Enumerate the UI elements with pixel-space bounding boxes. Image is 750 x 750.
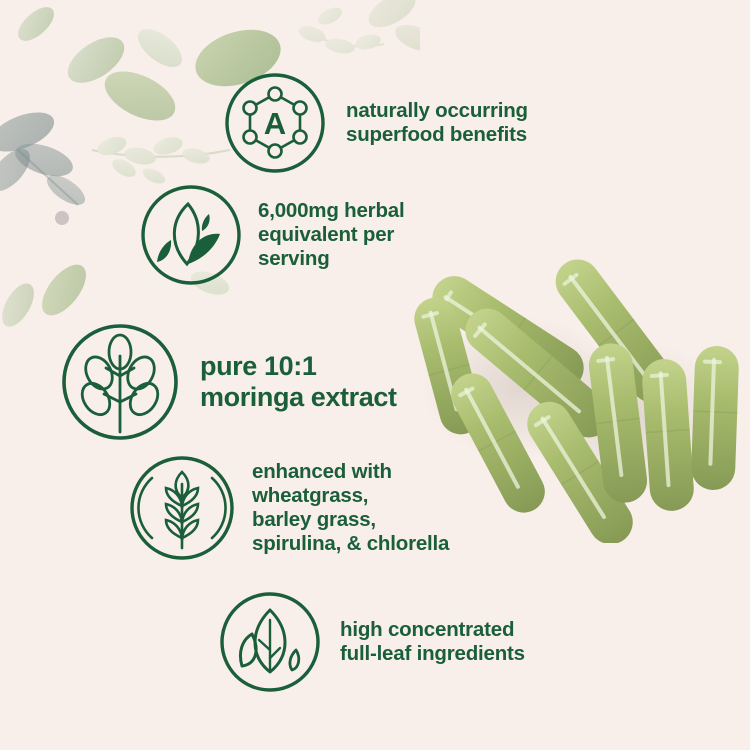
svg-text:A: A bbox=[264, 106, 286, 141]
wheat-stalk-icon bbox=[126, 452, 238, 564]
moringa-branch-icon bbox=[58, 320, 182, 444]
feature-text: enhanced with wheatgrass, barley grass, … bbox=[252, 460, 449, 555]
leaf-cluster-icon bbox=[138, 182, 244, 288]
infographic-canvas: A naturally occurring superfood benefits… bbox=[0, 0, 750, 750]
feature-text: naturally occurring superfood benefits bbox=[346, 99, 528, 147]
feature-text: pure 10:1 moringa extract bbox=[200, 351, 397, 414]
moringa-capsules-photo bbox=[400, 238, 750, 543]
feature-naturally-occurring: A naturally occurring superfood benefits bbox=[222, 70, 528, 176]
feature-full-leaf: high concentrated full-leaf ingredients bbox=[216, 588, 525, 696]
leaf-droplet-icon bbox=[216, 588, 324, 696]
feature-text: high concentrated full-leaf ingredients bbox=[340, 618, 525, 666]
molecule-hexagon-a-icon: A bbox=[222, 70, 328, 176]
feature-text: 6,000mg herbal equivalent per serving bbox=[258, 199, 404, 270]
feature-enhanced-with: enhanced with wheatgrass, barley grass, … bbox=[126, 452, 449, 564]
feature-moringa-extract: pure 10:1 moringa extract bbox=[58, 320, 397, 444]
feature-herbal-equivalent: 6,000mg herbal equivalent per serving bbox=[138, 182, 404, 288]
